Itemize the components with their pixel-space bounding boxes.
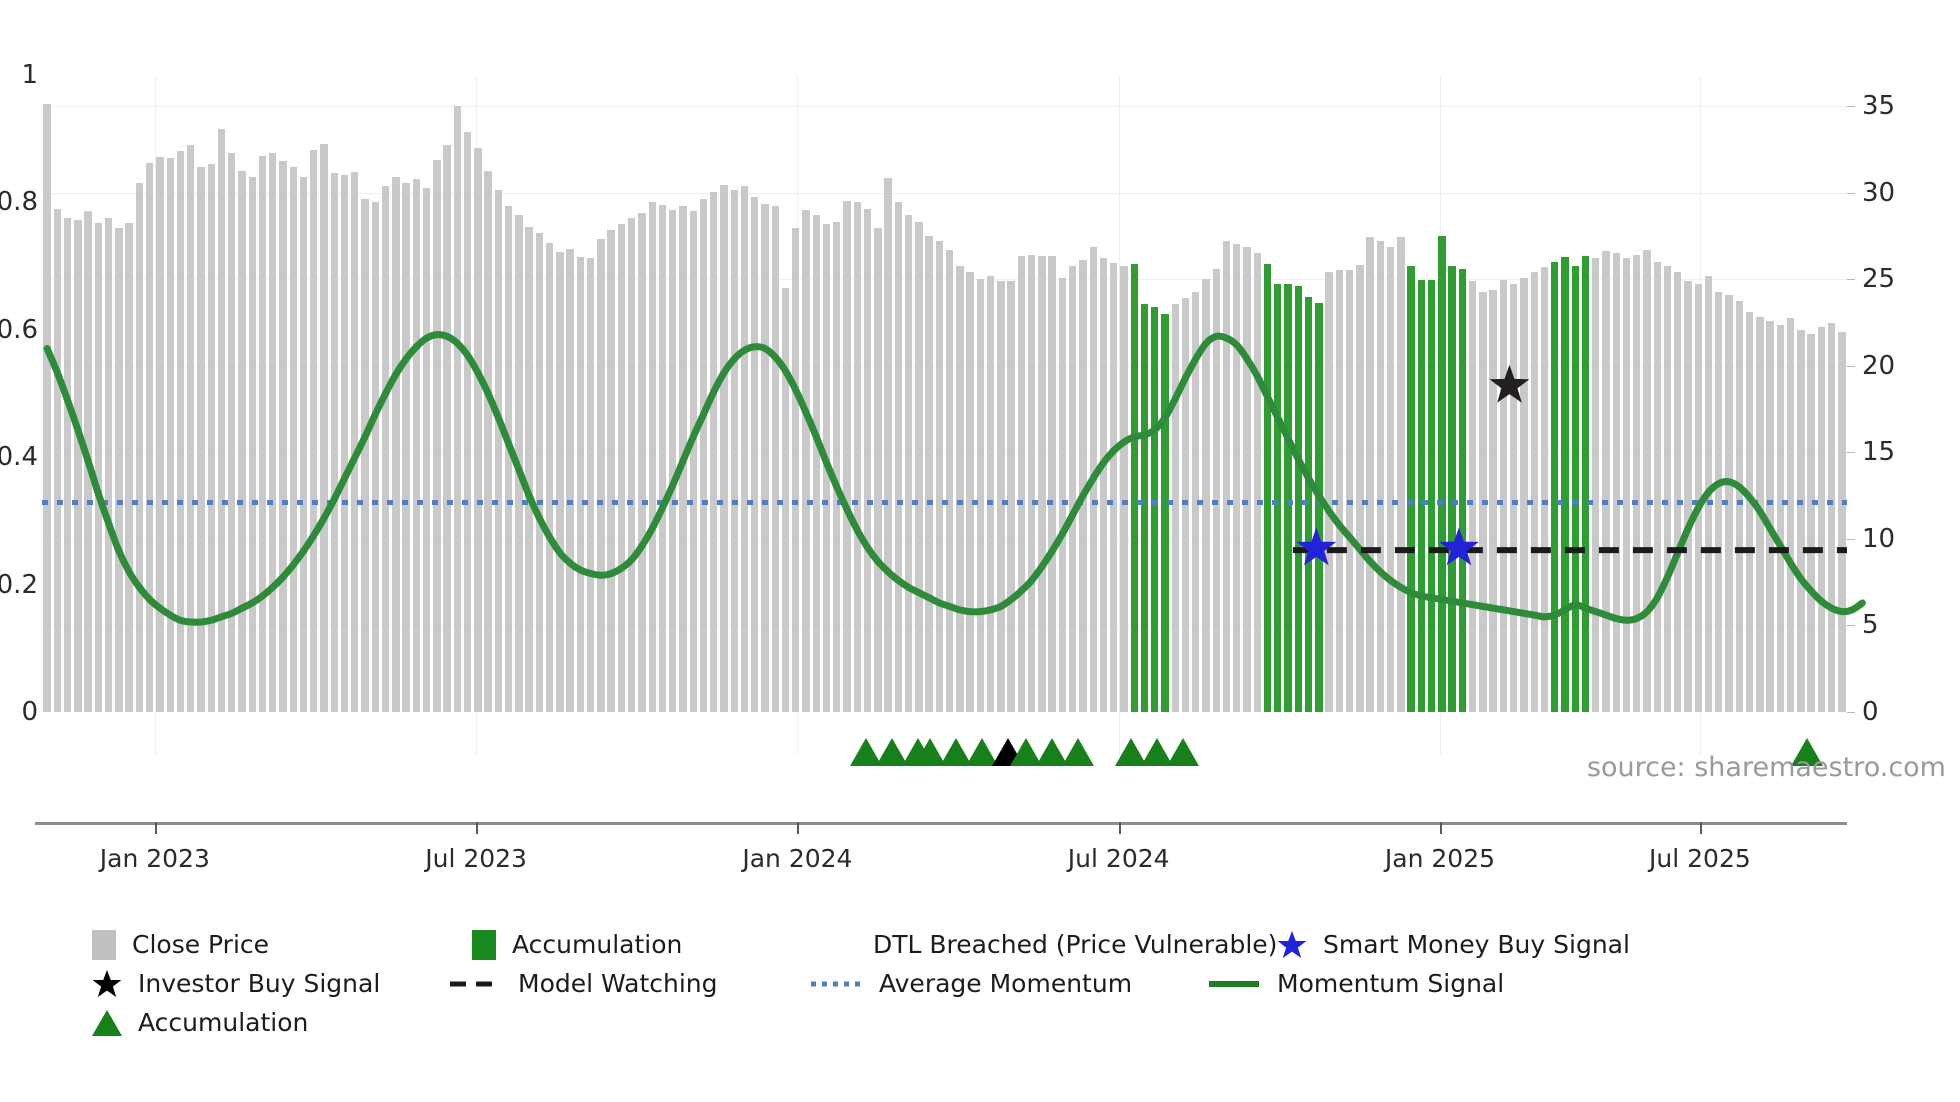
close-price-bar xyxy=(1828,323,1835,712)
close-price-bar xyxy=(1377,241,1384,712)
y-tick-right: 20 xyxy=(1862,351,1895,381)
close-price-bar xyxy=(1202,279,1209,712)
accumulation-triangle-icon xyxy=(92,1010,122,1036)
close-price-bar xyxy=(864,209,871,712)
close-price-bar xyxy=(731,190,738,712)
accumulation-bar xyxy=(1448,266,1455,712)
close-price-bar xyxy=(331,173,338,712)
legend-item-momentum-signal[interactable]: Momentum Signal xyxy=(1207,964,1504,1003)
close-price-bar xyxy=(525,227,532,712)
y-tick-mark-right xyxy=(1847,539,1855,540)
x-tick-mark xyxy=(1440,822,1442,834)
smart-money-star-icon xyxy=(1277,930,1307,960)
close-price-swatch xyxy=(92,930,116,960)
close-price-bar xyxy=(761,204,768,712)
close-price-bar xyxy=(577,257,584,712)
close-price-bar xyxy=(433,160,440,712)
accumulation-bar xyxy=(1561,257,1568,712)
close-price-bar xyxy=(1510,284,1517,712)
close-price-bar xyxy=(1028,255,1035,712)
close-price-bar xyxy=(1366,237,1373,712)
close-price-bar xyxy=(1592,258,1599,712)
close-price-bar xyxy=(700,199,707,712)
x-tick-mark xyxy=(1119,822,1121,834)
close-price-bar xyxy=(1048,256,1055,712)
close-price-bar xyxy=(925,236,932,712)
close-price-bar xyxy=(710,192,717,712)
close-price-bar xyxy=(1233,244,1240,712)
legend-row-1: Close Price Accumulation DTL Breached (P… xyxy=(92,925,1892,964)
close-price-bar xyxy=(259,156,266,712)
accumulation-bar xyxy=(1572,266,1579,712)
accumulation-bar xyxy=(1438,236,1445,712)
close-price-bar xyxy=(1336,270,1343,712)
close-price-bar xyxy=(1120,266,1127,712)
close-price-bar xyxy=(64,218,71,712)
x-tick-mark xyxy=(155,822,157,834)
close-price-bar xyxy=(1787,318,1794,712)
x-tick-label: Jan 2025 xyxy=(1385,844,1495,873)
close-price-bar xyxy=(228,153,235,712)
close-price-bar xyxy=(638,213,645,712)
close-price-bar xyxy=(238,171,245,712)
close-price-bar xyxy=(392,177,399,712)
x-tick-mark xyxy=(476,822,478,834)
close-price-bar xyxy=(1110,263,1117,712)
close-price-bar xyxy=(1531,272,1538,712)
close-price-bar xyxy=(1069,266,1076,712)
close-price-bar xyxy=(279,161,286,712)
close-price-bar xyxy=(361,199,368,712)
legend-label: Close Price xyxy=(132,930,269,959)
accumulation-bar xyxy=(1141,304,1148,712)
close-price-bar xyxy=(1715,292,1722,712)
close-price-bar xyxy=(1838,332,1845,712)
x-tick-label: Jan 2023 xyxy=(100,844,210,873)
chart-root: 00.20.40.60.81 05101520253035 Jan 2023Ju… xyxy=(0,0,1960,1102)
close-price-bar xyxy=(1684,281,1691,712)
close-price-bar xyxy=(1254,253,1261,712)
accumulation-bar xyxy=(1274,284,1281,712)
x-tick-mark xyxy=(797,822,799,834)
close-price-bar xyxy=(679,206,686,712)
legend-item-accumulation-bar[interactable]: Accumulation xyxy=(472,925,857,964)
close-price-bar xyxy=(1725,295,1732,712)
close-price-bar xyxy=(751,197,758,712)
close-price-bar xyxy=(833,222,840,712)
close-price-bar xyxy=(1489,290,1496,712)
accumulation-bar xyxy=(1418,280,1425,712)
close-price-bar xyxy=(1664,266,1671,712)
accumulation-bar xyxy=(1407,266,1414,712)
close-price-bar xyxy=(1818,327,1825,712)
momentum-signal-line-icon xyxy=(1207,969,1261,999)
close-price-bar xyxy=(1705,276,1712,712)
close-price-bar xyxy=(505,206,512,712)
close-price-bar xyxy=(1090,247,1097,712)
close-price-bar xyxy=(874,228,881,712)
price-bars xyxy=(42,75,1847,712)
close-price-bar xyxy=(1182,298,1189,712)
close-price-bar xyxy=(649,202,656,712)
close-price-bar xyxy=(249,177,256,712)
investor-star-icon xyxy=(92,969,122,999)
legend-label: Model Watching xyxy=(518,969,718,998)
close-price-bar xyxy=(566,249,573,712)
y-tick-left: 0.6 xyxy=(0,315,38,345)
close-price-bar xyxy=(1213,269,1220,712)
y-tick-mark-right xyxy=(1847,712,1855,713)
y-tick-left: 1 xyxy=(0,60,38,90)
close-price-bar xyxy=(43,104,50,712)
x-tick-label: Jul 2024 xyxy=(1068,844,1170,873)
close-price-bar xyxy=(1079,260,1086,712)
accumulation-bar xyxy=(1295,286,1302,712)
y-tick-right: 15 xyxy=(1862,437,1895,467)
close-price-bar xyxy=(977,279,984,712)
close-price-bar xyxy=(1172,304,1179,712)
close-price-bar xyxy=(218,129,225,712)
close-price-bar xyxy=(454,106,461,712)
close-price-bar xyxy=(987,276,994,712)
accumulation-bar xyxy=(1582,256,1589,712)
close-price-bar xyxy=(1356,265,1363,712)
close-price-bar xyxy=(443,145,450,712)
legend-item-model-watching[interactable]: Model Watching xyxy=(448,964,833,1003)
close-price-bar xyxy=(1479,292,1486,712)
close-price-bar xyxy=(884,178,891,712)
close-price-bar xyxy=(105,218,112,712)
close-price-bar xyxy=(197,167,204,712)
close-price-bar xyxy=(1613,253,1620,712)
y-tick-mark-right xyxy=(1847,452,1855,453)
accumulation-bar xyxy=(1131,264,1138,712)
chart-legend: Close Price Accumulation DTL Breached (P… xyxy=(92,925,1892,1042)
close-price-bar xyxy=(156,157,163,712)
close-price-bar xyxy=(515,215,522,712)
legend-item-close-price[interactable]: Close Price xyxy=(92,925,472,964)
x-tick-label: Jul 2023 xyxy=(425,844,527,873)
y-tick-mark-right xyxy=(1847,193,1855,194)
close-price-bar xyxy=(1192,292,1199,712)
close-price-bar xyxy=(372,202,379,712)
close-price-bar xyxy=(1397,237,1404,712)
x-tick-label: Jul 2025 xyxy=(1649,844,1751,873)
legend-label: Investor Buy Signal xyxy=(138,969,380,998)
close-price-bar xyxy=(269,153,276,712)
close-price-bar xyxy=(95,223,102,712)
close-price-bar xyxy=(187,145,194,712)
y-tick-left: 0.2 xyxy=(0,570,38,600)
legend-label: Average Momentum xyxy=(879,969,1132,998)
accumulation-triangle xyxy=(1167,738,1199,766)
close-price-bar xyxy=(1654,262,1661,712)
y-tick-left: 0 xyxy=(0,697,38,727)
close-price-bar xyxy=(1223,241,1230,712)
close-price-bar xyxy=(1777,325,1784,712)
y-tick-mark-right xyxy=(1847,106,1855,107)
close-price-bar xyxy=(125,223,132,712)
close-price-bar xyxy=(1100,258,1107,712)
close-price-bar xyxy=(690,211,697,712)
accumulation-bar xyxy=(1264,264,1271,712)
y-tick-right: 25 xyxy=(1862,264,1895,294)
close-price-bar xyxy=(905,215,912,712)
close-price-bar xyxy=(720,185,727,712)
close-price-bar xyxy=(772,206,779,712)
close-price-bar xyxy=(1807,334,1814,712)
y-tick-right: 10 xyxy=(1862,524,1895,554)
close-price-bar xyxy=(1633,255,1640,712)
close-price-bar xyxy=(208,164,215,712)
x-tick-label: Jan 2024 xyxy=(742,844,852,873)
close-price-bar xyxy=(895,202,902,712)
close-price-bar xyxy=(423,188,430,712)
close-price-bar xyxy=(1602,251,1609,712)
close-price-bar xyxy=(1746,312,1753,712)
close-price-bar xyxy=(167,158,174,712)
close-price-bar xyxy=(84,211,91,712)
accumulation-bar xyxy=(1551,262,1558,712)
model-watching-dash-icon xyxy=(448,969,502,999)
close-price-bar xyxy=(1797,330,1804,712)
y-tick-mark-right xyxy=(1847,625,1855,626)
y-tick-right: 5 xyxy=(1862,610,1879,640)
close-price-bar xyxy=(854,202,861,712)
close-price-bar xyxy=(741,186,748,712)
close-price-bar xyxy=(1520,278,1527,712)
close-price-bar xyxy=(536,233,543,712)
close-price-bar xyxy=(320,144,327,712)
close-price-bar xyxy=(618,224,625,712)
legend-item-smart-money[interactable]: Smart Money Buy Signal xyxy=(1277,925,1630,964)
legend-row-2: Investor Buy Signal Model Watching Avera… xyxy=(92,964,1892,1003)
close-price-bar xyxy=(915,222,922,712)
accumulation-bar xyxy=(1315,303,1322,712)
close-price-bar xyxy=(956,266,963,712)
close-price-bar xyxy=(587,258,594,712)
close-price-bar xyxy=(669,210,676,712)
close-price-bar xyxy=(936,241,943,712)
close-price-bar xyxy=(966,272,973,712)
accumulation-bar xyxy=(1151,307,1158,712)
close-price-bar xyxy=(402,183,409,712)
y-tick-mark-right xyxy=(1847,366,1855,367)
close-price-bar xyxy=(1766,321,1773,712)
close-price-bar xyxy=(1325,272,1332,712)
legend-item-accumulation-triangle[interactable]: Accumulation xyxy=(92,1003,472,1042)
legend-row-3: Accumulation xyxy=(92,1003,1892,1042)
close-price-bar xyxy=(413,179,420,712)
close-price-bar xyxy=(823,224,830,712)
close-price-bar xyxy=(136,183,143,712)
close-price-bar xyxy=(495,190,502,712)
y-tick-mark-right xyxy=(1847,279,1855,280)
close-price-bar xyxy=(115,228,122,712)
accumulation-bar xyxy=(1305,297,1312,712)
accumulation-bar xyxy=(1428,280,1435,712)
legend-label: Momentum Signal xyxy=(1277,969,1504,998)
close-price-bar xyxy=(1695,284,1702,712)
close-price-bar xyxy=(792,228,799,712)
close-price-bar xyxy=(341,175,348,712)
close-price-bar xyxy=(1018,256,1025,712)
close-price-bar xyxy=(54,209,61,712)
accumulation-bar xyxy=(1161,314,1168,712)
close-price-bar xyxy=(597,239,604,712)
average-momentum-dot-icon xyxy=(809,969,863,999)
legend-item-dtl-breached[interactable]: DTL Breached (Price Vulnerable) xyxy=(857,925,1277,964)
x-axis-line xyxy=(35,822,1847,825)
close-price-bar xyxy=(146,163,153,712)
close-price-bar xyxy=(628,218,635,712)
close-price-bar xyxy=(843,201,850,712)
close-price-bar xyxy=(607,230,614,712)
legend-label: DTL Breached (Price Vulnerable) xyxy=(873,930,1277,959)
close-price-bar xyxy=(1007,281,1014,712)
close-price-bar xyxy=(946,250,953,712)
close-price-bar xyxy=(1623,258,1630,712)
close-price-bar xyxy=(351,172,358,712)
y-tick-right: 30 xyxy=(1862,178,1895,208)
close-price-bar xyxy=(1387,247,1394,712)
close-price-bar xyxy=(382,186,389,712)
close-price-bar xyxy=(782,288,789,712)
source-attribution: source: sharemaestro.com xyxy=(1587,752,1946,783)
legend-label: Accumulation xyxy=(512,930,682,959)
close-price-bar xyxy=(310,150,317,712)
close-price-bar xyxy=(802,210,809,712)
legend-item-average-momentum[interactable]: Average Momentum xyxy=(809,964,1229,1003)
close-price-bar xyxy=(1469,281,1476,712)
close-price-bar xyxy=(1500,280,1507,712)
close-price-bar xyxy=(1756,317,1763,712)
y-tick-right: 0 xyxy=(1862,697,1879,727)
close-price-bar xyxy=(1059,278,1066,712)
accumulation-bar-swatch xyxy=(472,930,496,960)
close-price-bar xyxy=(546,243,553,712)
x-tick-mark xyxy=(1700,822,1702,834)
accumulation-triangle xyxy=(1062,738,1094,766)
close-price-bar xyxy=(1643,250,1650,712)
accumulation-bar xyxy=(1284,284,1291,712)
close-price-bar xyxy=(1243,247,1250,712)
close-price-bar xyxy=(997,281,1004,712)
legend-item-investor-buy[interactable]: Investor Buy Signal xyxy=(92,964,472,1003)
close-price-bar xyxy=(474,148,481,712)
close-price-bar xyxy=(556,252,563,712)
close-price-bar xyxy=(290,167,297,712)
close-price-bar xyxy=(1674,272,1681,712)
close-price-bar xyxy=(1736,301,1743,713)
y-tick-right: 35 xyxy=(1862,91,1895,121)
close-price-bar xyxy=(1346,270,1353,712)
y-tick-left: 0.4 xyxy=(0,442,38,472)
y-tick-left: 0.8 xyxy=(0,187,38,217)
close-price-bar xyxy=(659,205,666,712)
close-price-bar xyxy=(813,215,820,712)
legend-label: Accumulation xyxy=(138,1008,308,1037)
legend-label: Smart Money Buy Signal xyxy=(1323,930,1630,959)
accumulation-bar xyxy=(1459,269,1466,712)
close-price-bar xyxy=(464,132,471,712)
close-price-bar xyxy=(1038,256,1045,712)
close-price-bar xyxy=(177,151,184,712)
close-price-bar xyxy=(74,220,81,712)
close-price-bar xyxy=(300,177,307,712)
close-price-bar xyxy=(1541,267,1548,712)
close-price-bar xyxy=(484,171,491,712)
